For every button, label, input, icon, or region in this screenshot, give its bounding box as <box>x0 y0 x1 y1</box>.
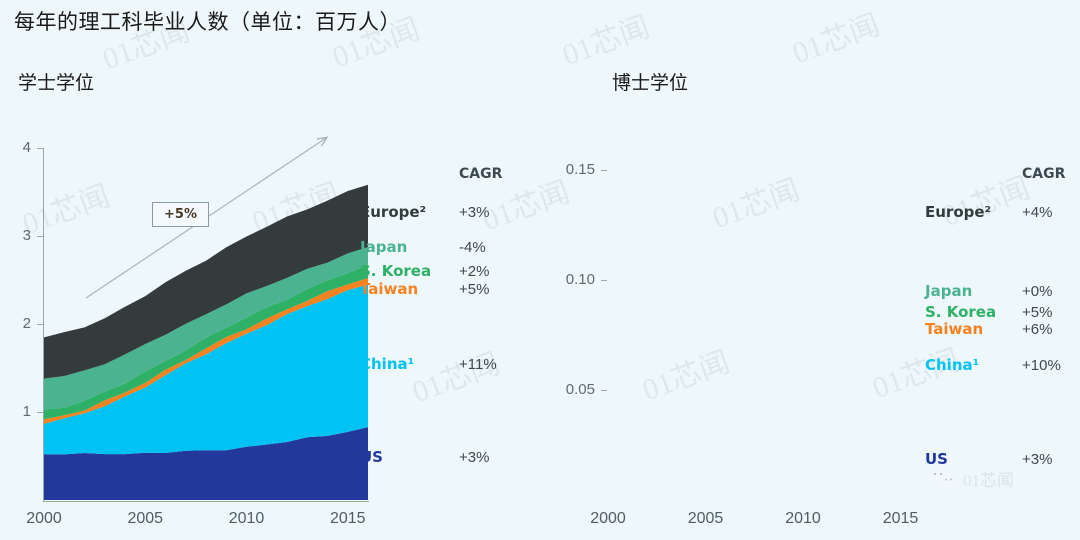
cagr-value-china: +11% <box>459 356 497 373</box>
cagr-value-taiwan: +5% <box>459 281 489 298</box>
cagr-value-japan: -4% <box>459 239 486 256</box>
x-axis-label: 2010 <box>773 510 833 528</box>
x-axis-label: 2015 <box>871 510 931 528</box>
cagr-value-china: +10% <box>1022 357 1061 374</box>
y-tick <box>37 148 43 149</box>
y-axis-label: 2 <box>0 315 31 332</box>
y-axis-label: 0.15 <box>545 161 595 178</box>
y-axis-label: 0.05 <box>545 381 595 398</box>
cagr-value-taiwan: +6% <box>1022 321 1052 338</box>
y-axis-label: 4 <box>0 139 31 156</box>
legend-label-taiwan: Taiwan <box>360 280 418 298</box>
cagr-header-left: CAGR <box>459 166 502 182</box>
y-axis-label: 3 <box>0 227 31 244</box>
legend-label-skorea: S. Korea <box>360 262 431 280</box>
cagr-value-skorea: +2% <box>459 263 489 280</box>
y-tick <box>37 236 43 237</box>
x-axis-label: 2010 <box>217 510 277 528</box>
y-axis-label: 1 <box>0 403 31 420</box>
legend-label-skorea: S. Korea <box>925 303 996 321</box>
legend-label-japan: Japan <box>925 282 972 300</box>
cagr-value-skorea: +5% <box>1022 304 1052 321</box>
cagr-value-europe: +4% <box>1022 204 1052 221</box>
legend-label-europe: Europe² <box>360 203 426 221</box>
legend-label-us: US <box>925 450 948 468</box>
x-axis-label: 2005 <box>676 510 736 528</box>
chart-page: 01芯闻 01芯闻 01芯闻 01芯闻 01芯闻 01芯闻 01芯闻 01芯闻 … <box>0 0 1080 540</box>
chart-panel-doctoral: +4% <box>540 0 1080 540</box>
legend-label-japan: Japan <box>360 238 407 256</box>
cagr-value-us: +3% <box>1022 451 1052 468</box>
cagr-value-europe: +3% <box>459 204 489 221</box>
y-tick <box>37 324 43 325</box>
callout-left: +5% <box>152 202 209 227</box>
x-axis-line-left <box>43 501 369 502</box>
cagr-header-right: CAGR <box>1022 166 1065 182</box>
wechat-icon <box>928 467 958 491</box>
y-tick <box>37 412 43 413</box>
y-axis-label: 0.10 <box>545 271 595 288</box>
x-axis-label: 2005 <box>115 510 175 528</box>
legend-label-us: US <box>360 448 383 466</box>
x-axis-label: 2015 <box>318 510 378 528</box>
legend-label-china: China¹ <box>925 356 979 374</box>
y-tick <box>601 170 607 171</box>
y-tick <box>601 280 607 281</box>
legend-label-taiwan: Taiwan <box>925 320 983 338</box>
x-axis-label: 2000 <box>14 510 74 528</box>
wechat-brand-label: 01芯闻 <box>963 466 1014 491</box>
cagr-value-japan: +0% <box>1022 283 1052 300</box>
x-axis-label: 2000 <box>578 510 638 528</box>
y-tick <box>601 390 607 391</box>
legend-label-china: China¹ <box>360 355 414 373</box>
cagr-value-us: +3% <box>459 449 489 466</box>
legend-label-europe: Europe² <box>925 203 991 221</box>
wechat-badge: 01芯闻 <box>928 466 1014 491</box>
